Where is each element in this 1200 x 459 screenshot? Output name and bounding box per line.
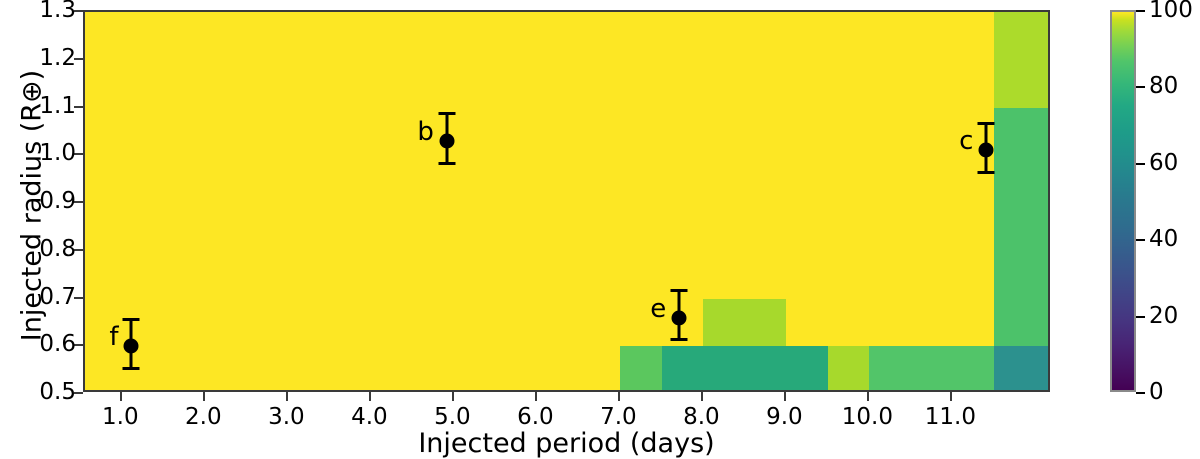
x-tick-1.0 — [120, 392, 122, 401]
x-tick-5.0 — [452, 392, 454, 401]
x-tick-label-9.0: 9.0 — [744, 404, 824, 430]
x-tick-6.0 — [535, 392, 537, 401]
error-cap-b-lower — [438, 162, 455, 165]
error-cap-c-upper — [978, 122, 995, 125]
x-tick-7.0 — [618, 392, 620, 401]
marker-e — [672, 310, 687, 325]
x-tick-label-2.0: 2.0 — [163, 404, 243, 430]
y-tick-label-1.3: 1.3 — [14, 0, 76, 23]
cell-p9.5-10.0-r0.5-0.6 — [828, 346, 870, 392]
colorbar-tick-0 — [1136, 392, 1145, 394]
x-tick-10.0 — [867, 392, 869, 401]
x-tick-label-6.0: 6.0 — [495, 404, 575, 430]
colorbar-tick-label-100: 100 — [1149, 0, 1193, 23]
cell-p11.5-12.2-r1.1-1.3 — [994, 12, 1050, 108]
colorbar-tick-100 — [1136, 10, 1145, 12]
x-tick-label-3.0: 3.0 — [246, 404, 326, 430]
y-tick-label-1.1: 1.1 — [14, 93, 76, 119]
colorbar-tick-label-40: 40 — [1149, 226, 1178, 252]
error-cap-b-upper — [438, 112, 455, 115]
x-tick-2.0 — [203, 392, 205, 401]
colorbar-tick-label-60: 60 — [1149, 150, 1178, 176]
colorbar-tick-label-20: 20 — [1149, 303, 1178, 329]
error-cap-f-lower — [123, 367, 140, 370]
error-cap-e-lower — [671, 338, 688, 341]
error-cap-e-upper — [671, 289, 688, 292]
point-label-e: e — [650, 294, 666, 324]
y-tick-label-0.7: 0.7 — [14, 284, 76, 310]
colorbar-tick-label-80: 80 — [1149, 73, 1178, 99]
x-tick-label-1.0: 1.0 — [80, 404, 160, 430]
y-tick-label-1.2: 1.2 — [14, 45, 76, 71]
x-tick-label-5.0: 5.0 — [412, 404, 492, 430]
y-tick-label-0.9: 0.9 — [14, 188, 76, 214]
colorbar-gradient — [1110, 10, 1136, 392]
cell-p10.0-11.5-r0.5-0.6 — [869, 346, 994, 392]
heatmap-axes: fbec — [83, 10, 1050, 392]
marker-b — [439, 133, 454, 148]
x-tick-11.0 — [950, 392, 952, 401]
x-tick-label-8.0: 8.0 — [661, 404, 741, 430]
x-axis-label-text: Injected period (days) — [418, 428, 714, 459]
y-tick-label-0.6: 0.6 — [14, 331, 76, 357]
point-label-b: b — [417, 117, 434, 147]
colorbar-tick-label-0: 0 — [1149, 379, 1164, 405]
colorbar-tick-80 — [1136, 86, 1145, 88]
colorbar-tick-60 — [1136, 163, 1145, 165]
point-label-c: c — [959, 126, 973, 156]
y-tick-label-1.0: 1.0 — [14, 140, 76, 166]
figure-root: Injected radius (R⊕) 0.50.60.70.80.91.01… — [0, 0, 1200, 457]
cell-p11.5-12.2-r0.6-1.1 — [994, 108, 1050, 347]
x-tick-3.0 — [286, 392, 288, 401]
point-label-f: f — [109, 322, 118, 352]
x-tick-label-7.0: 7.0 — [578, 404, 658, 430]
x-tick-4.0 — [369, 392, 371, 401]
y-tick-label-0.8: 0.8 — [14, 236, 76, 262]
y-tick-label-0.5: 0.5 — [14, 379, 76, 405]
x-tick-label-11.0: 11.0 — [910, 404, 990, 430]
x-tick-label-4.0: 4.0 — [329, 404, 409, 430]
marker-c — [979, 143, 994, 158]
marker-f — [124, 339, 139, 354]
cell-p8.0-9.0-r0.6-0.7 — [703, 299, 786, 347]
x-tick-9.0 — [784, 392, 786, 401]
x-axis-label: Injected period (days) — [83, 428, 1050, 459]
error-cap-f-upper — [123, 318, 140, 321]
x-tick-8.0 — [701, 392, 703, 401]
x-tick-label-10.0: 10.0 — [827, 404, 907, 430]
cell-p7.5-9.5-r0.5-0.6 — [662, 346, 828, 392]
colorbar-tick-20 — [1136, 316, 1145, 318]
cell-p11.5-12.2-r0.5-0.6 — [994, 346, 1050, 392]
colorbar-tick-40 — [1136, 239, 1145, 241]
cell-p7.0-7.5-r0.5-0.6 — [620, 346, 662, 392]
error-cap-c-lower — [978, 171, 995, 174]
